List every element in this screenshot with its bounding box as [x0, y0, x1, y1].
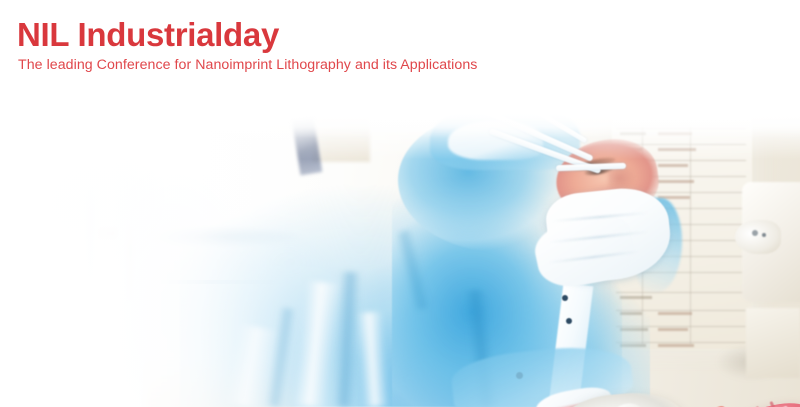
site-header: NIL Industrialday The leading Conference… — [0, 0, 800, 112]
page-root: NIL Industrialday The leading Conference… — [0, 0, 800, 407]
site-tagline: The leading Conference for Nanoimprint L… — [18, 56, 477, 74]
wafer-pattern — [0, 112, 800, 407]
page-title: NIL Industrialday — [17, 17, 279, 53]
hero-banner-image — [0, 112, 800, 407]
